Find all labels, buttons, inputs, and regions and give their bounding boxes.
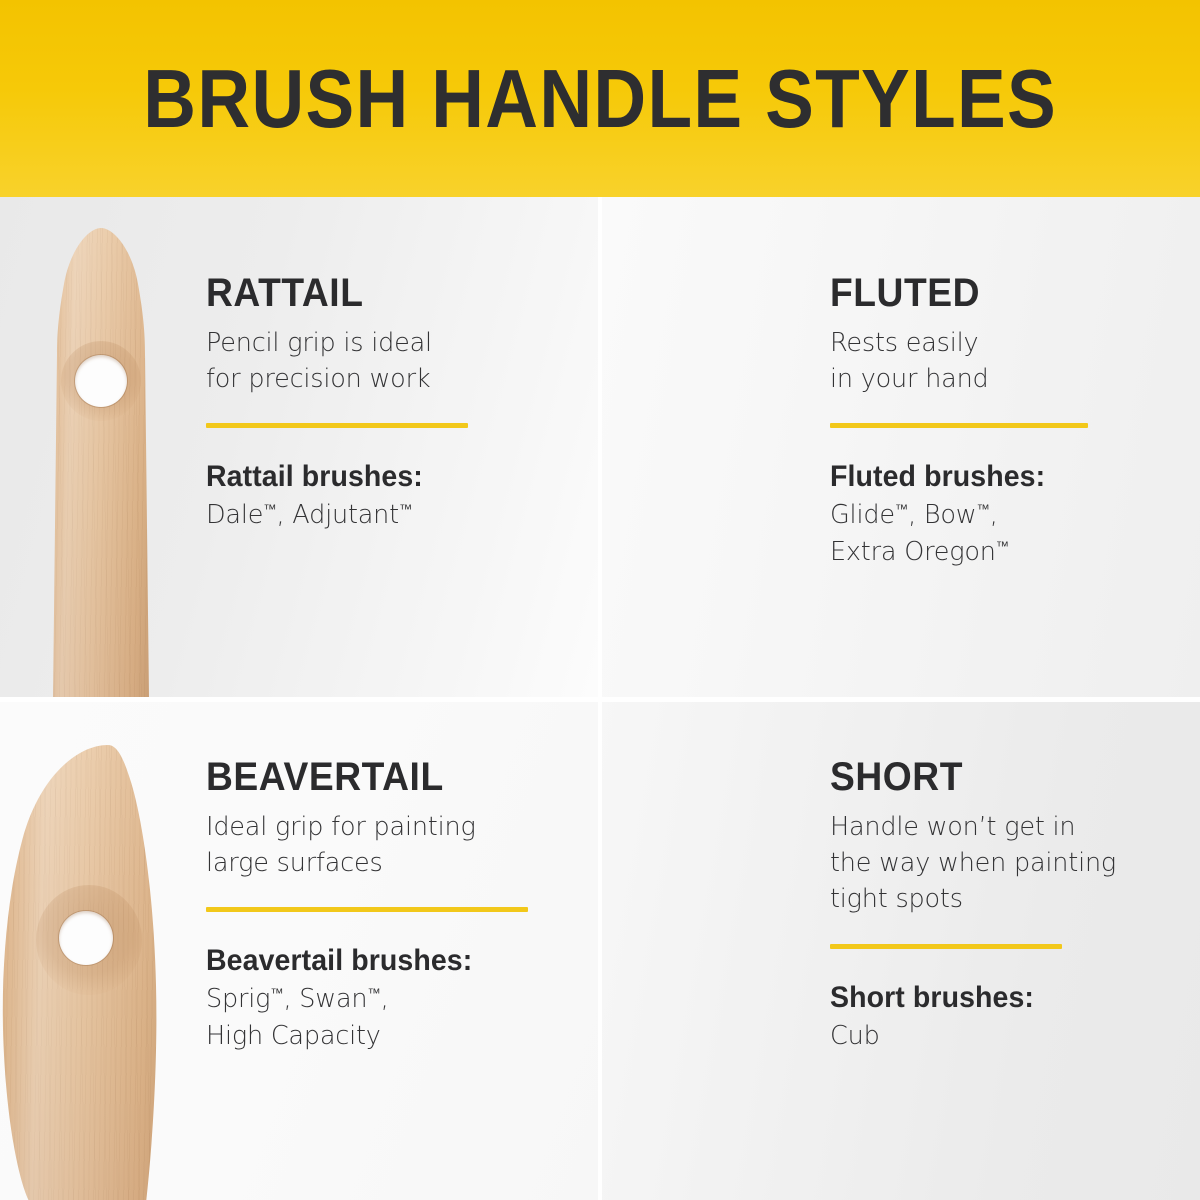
panel-short: SHORT Handle won’t get in the way when p… [598, 699, 1200, 1200]
style-name-short: SHORT [830, 756, 1096, 798]
style-description-fluted: Rests easily in your hand [830, 325, 1088, 397]
hang-hole [75, 355, 127, 407]
style-description-beavertail: Ideal grip for painting large surfaces [206, 809, 528, 881]
rattail-handle-image [42, 228, 160, 699]
divider-rule-rattail [206, 423, 468, 428]
style-name-rattail: RATTAIL [206, 272, 450, 314]
brushes-label-rattail: Rattail brushes: [206, 460, 455, 493]
panel-divider-horizontal [0, 697, 1200, 702]
brushes-list-rattail: Dale™, Adjutant™ [206, 497, 468, 533]
panel-fluted: FLUTED Rests easily in your hand Fluted … [598, 197, 1200, 699]
beavertail-handle-image [0, 745, 178, 1200]
panel-content-rattail: RATTAIL Pencil grip is ideal for precisi… [206, 272, 468, 534]
panel-content-fluted: FLUTED Rests easily in your hand Fluted … [830, 272, 1088, 570]
panel-content-short: SHORT Handle won’t get in the way when p… [830, 756, 1116, 1054]
style-name-fluted: FLUTED [830, 272, 1070, 314]
brushes-label-fluted: Fluted brushes: [830, 460, 1075, 493]
panel-content-beavertail: BEAVERTAIL Ideal grip for painting large… [206, 756, 528, 1054]
brush-handle-styles-infographic: BRUSH HANDLE STYLES RATTAIL Pencil grip … [0, 0, 1200, 1200]
brushes-list-fluted: Glide™, Bow™,Extra Oregon™ [830, 497, 1088, 569]
divider-rule-short [830, 944, 1062, 949]
brushes-label-beavertail: Beavertail brushes: [206, 944, 512, 977]
panel-rattail: RATTAIL Pencil grip is ideal for precisi… [0, 197, 598, 699]
brushes-list-short: Cub [830, 1018, 1116, 1054]
brushes-label-short: Short brushes: [830, 981, 1102, 1014]
hang-hole [59, 911, 113, 965]
wood-body [42, 228, 160, 699]
style-name-beavertail: BEAVERTAIL [206, 756, 505, 798]
divider-rule-beavertail [206, 907, 528, 912]
divider-rule-fluted [830, 423, 1088, 428]
brushes-list-beavertail: Sprig™, Swan™,High Capacity [206, 981, 528, 1053]
style-description-rattail: Pencil grip is ideal for precision work [206, 325, 468, 397]
page-title: BRUSH HANDLE STYLES [143, 57, 1057, 140]
header-banner: BRUSH HANDLE STYLES [0, 0, 1200, 197]
style-description-short: Handle won’t get in the way when paintin… [830, 809, 1116, 918]
panel-beavertail: BEAVERTAIL Ideal grip for painting large… [0, 699, 598, 1200]
